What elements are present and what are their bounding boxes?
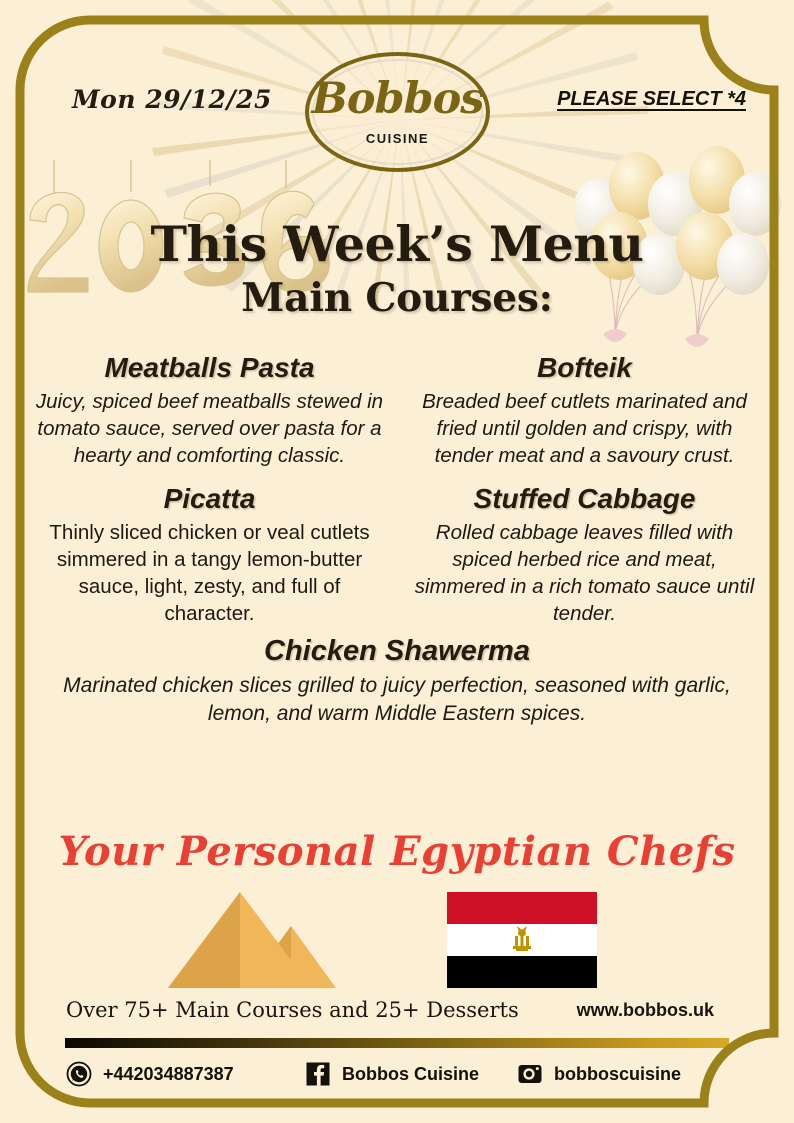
menu-poster: Mon 29/12/25 PLEASE SELECT *4 Bobbos CUI… bbox=[0, 0, 794, 1123]
poster-footer: Over 75+ Main Courses and 25+ Desserts w… bbox=[0, 998, 794, 1097]
logo-subtext: CUISINE bbox=[305, 131, 490, 146]
instagram-handle: bobboscuisine bbox=[554, 1064, 681, 1085]
whatsapp-number: +442034887387 bbox=[103, 1064, 234, 1085]
dish-name: Meatballs Pasta bbox=[32, 352, 387, 384]
dish-name: Chicken Shawerma bbox=[32, 635, 762, 668]
dish-item: Bofteik Breaded beef cutlets marinated a… bbox=[397, 352, 772, 469]
imagery-row bbox=[0, 888, 794, 993]
tagline: Your Personal Egyptian Chefs bbox=[0, 828, 794, 875]
footer-divider bbox=[65, 1038, 729, 1048]
dish-item: Picatta Thinly sliced chicken or veal cu… bbox=[22, 483, 397, 627]
contact-facebook[interactable]: Bobbos Cuisine bbox=[305, 1061, 479, 1087]
contact-whatsapp[interactable]: +442034887387 bbox=[66, 1061, 234, 1087]
page-subtitle: Main Courses: bbox=[0, 275, 794, 322]
please-select-note: PLEASE SELECT *4 bbox=[557, 88, 746, 111]
logo-wordmark: Bobbos bbox=[305, 74, 490, 124]
dish-description: Juicy, spiced beef meatballs stewed in t… bbox=[32, 388, 387, 469]
pyramids-icon bbox=[160, 888, 365, 988]
dish-name: Bofteik bbox=[407, 352, 762, 384]
instagram-icon bbox=[517, 1061, 543, 1087]
menu-date: Mon 29/12/25 bbox=[72, 85, 272, 114]
egypt-flag-icon bbox=[447, 892, 597, 988]
facebook-name: Bobbos Cuisine bbox=[342, 1064, 479, 1085]
courses-count-text: Over 75+ Main Courses and 25+ Desserts bbox=[66, 998, 519, 1022]
dish-description: Marinated chicken slices grilled to juic… bbox=[32, 672, 762, 727]
dish-item: Meatballs Pasta Juicy, spiced beef meatb… bbox=[22, 352, 397, 469]
dish-description: Breaded beef cutlets marinated and fried… bbox=[407, 388, 762, 469]
dish-name: Picatta bbox=[32, 483, 387, 515]
contact-instagram[interactable]: bobboscuisine bbox=[517, 1061, 681, 1087]
whatsapp-icon bbox=[66, 1061, 92, 1087]
dish-name: Stuffed Cabbage bbox=[407, 483, 762, 515]
page-title: This Week’s Menu bbox=[0, 218, 794, 271]
dish-description: Thinly sliced chicken or veal cutlets si… bbox=[32, 519, 387, 627]
dish-list: Meatballs Pasta Juicy, spiced beef meatb… bbox=[22, 352, 772, 728]
dish-description: Rolled cabbage leaves filled with spiced… bbox=[407, 519, 762, 627]
website-link[interactable]: www.bobbos.uk bbox=[577, 1000, 714, 1021]
dish-item: Stuffed Cabbage Rolled cabbage leaves fi… bbox=[397, 483, 772, 627]
title-block: This Week’s Menu Main Courses: bbox=[0, 218, 794, 322]
facebook-icon bbox=[305, 1061, 331, 1087]
brand-logo: Bobbos CUISINE bbox=[305, 52, 490, 172]
dish-item: Chicken Shawerma Marinated chicken slice… bbox=[22, 635, 772, 727]
